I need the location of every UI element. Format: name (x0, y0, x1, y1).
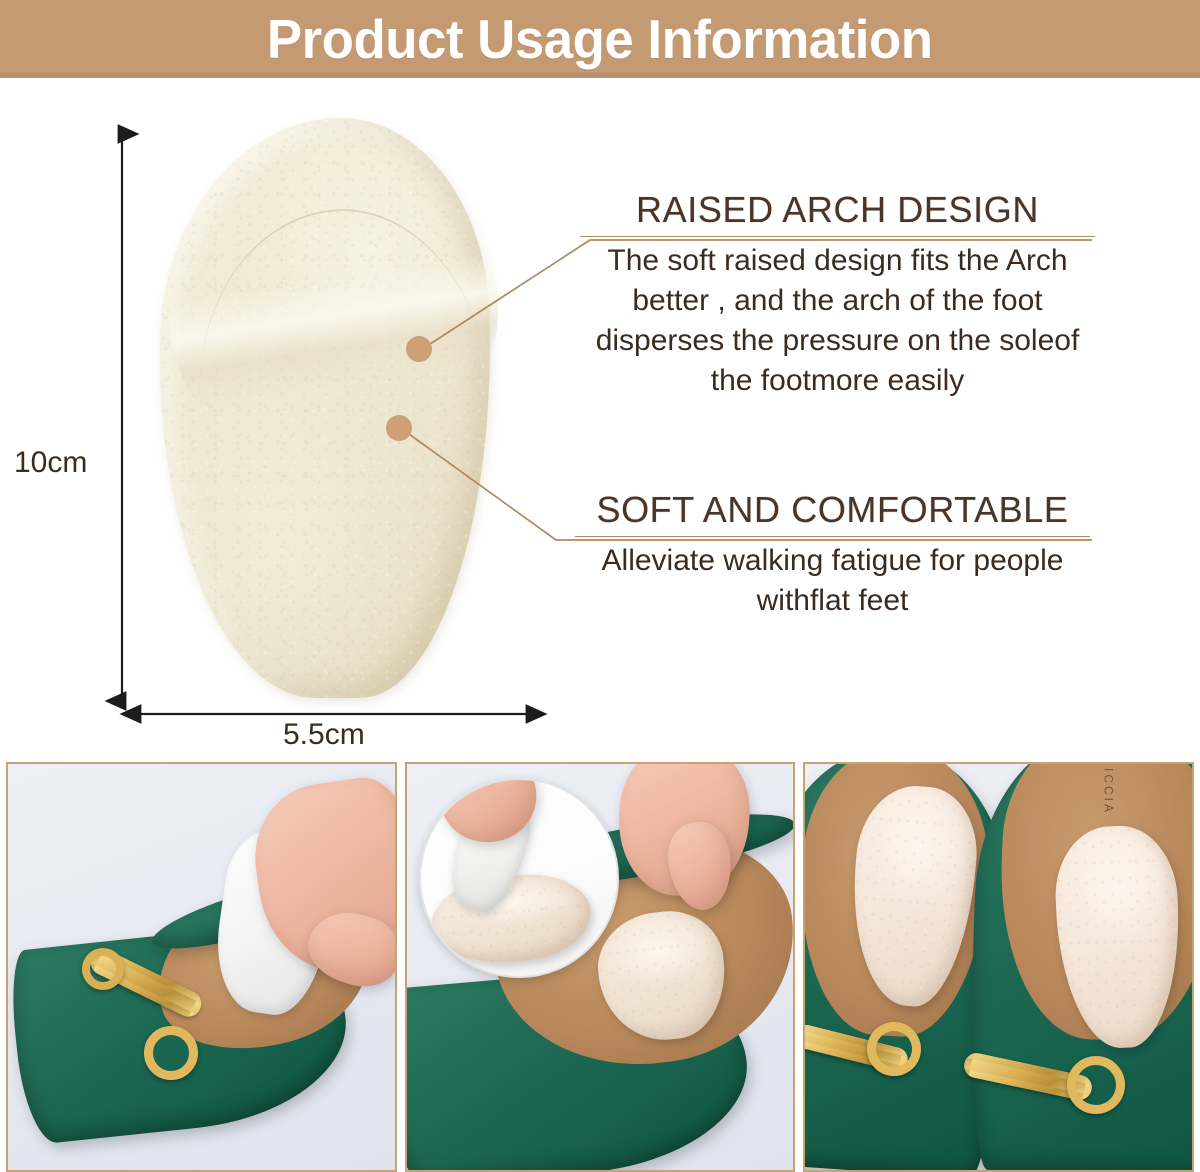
insole-pad-shape (160, 118, 490, 698)
product-diagram-area: 10cm 5.5cm RAISED ARCH DESIGN The soft r… (0, 78, 1200, 758)
insole-illustration (160, 118, 490, 698)
header-banner: Product Usage Information (0, 0, 1200, 78)
usage-photo-strip: A (0, 762, 1200, 1172)
height-dimension-label: 10cm (14, 446, 87, 480)
callout-body: Alleviate walking fatigue for people wit… (575, 541, 1090, 621)
callout-heading: SOFT AND COMFORTABLE (575, 490, 1090, 530)
page-title: Product Usage Information (267, 12, 933, 67)
usage-photo-step-2: A (405, 762, 796, 1172)
callout-underline (575, 536, 1090, 537)
horsebit-ring-lower (144, 1026, 198, 1080)
usage-photo-step-1 (6, 762, 397, 1172)
usage-photo-step-3: ICCIA (803, 762, 1194, 1172)
horsebit-ring-upper (82, 948, 124, 990)
insole-brand-text: ICCIA (1101, 768, 1115, 815)
infographic-page: Product Usage Information (0, 0, 1200, 1172)
width-dimension-label: 5.5cm (283, 718, 365, 752)
insole-fleece-texture (160, 118, 490, 698)
callout-heading: RAISED ARCH DESIGN (580, 190, 1095, 230)
callout-soft-and-comfortable: SOFT AND COMFORTABLE Alleviate walking f… (575, 490, 1090, 621)
callout-underline (580, 236, 1095, 237)
peel-backing-inset (419, 778, 619, 978)
callout-raised-arch-design: RAISED ARCH DESIGN The soft raised desig… (580, 190, 1095, 401)
callout-body: The soft raised design fits the Arch bet… (580, 241, 1095, 401)
